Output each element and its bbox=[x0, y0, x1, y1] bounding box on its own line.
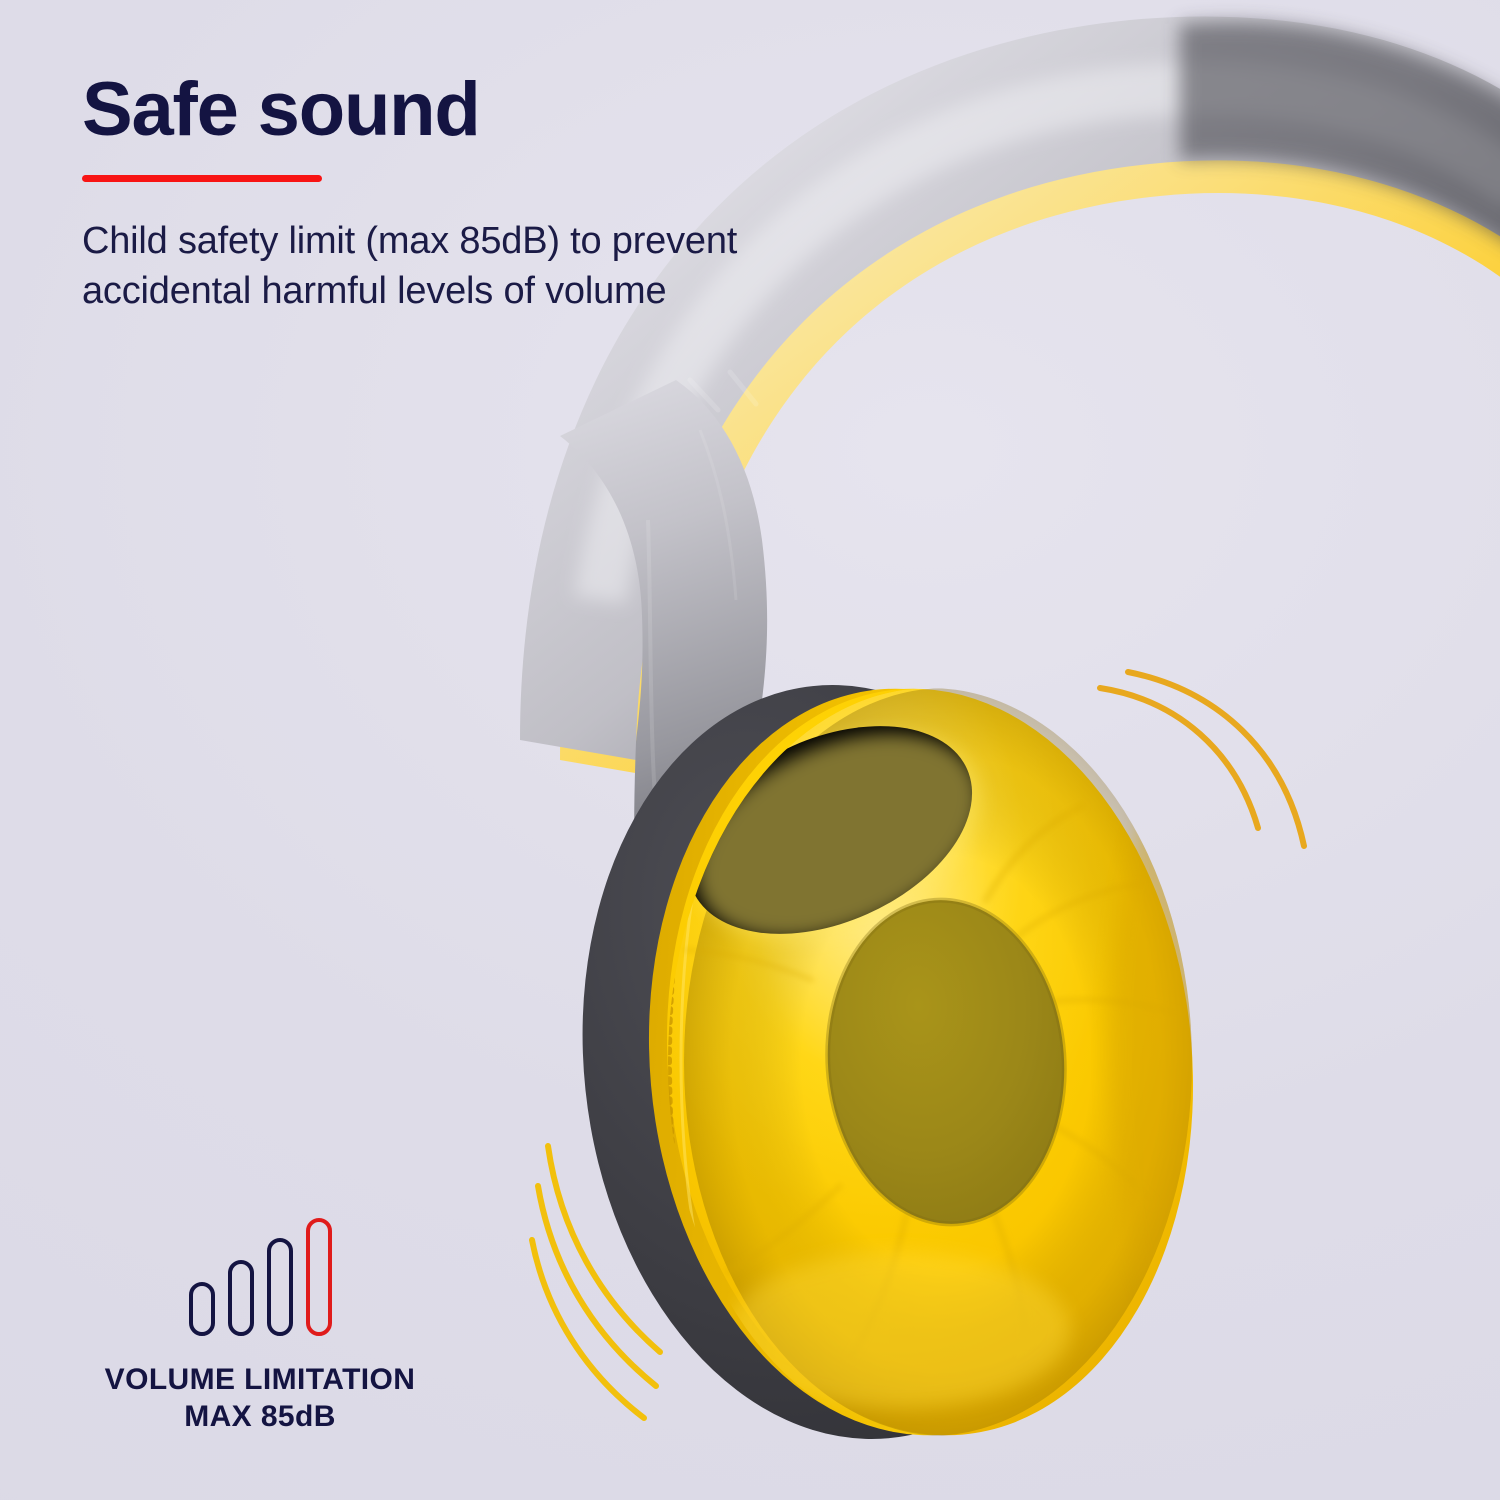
badge-caption: VOLUME LIMITATION MAX 85dB bbox=[82, 1362, 438, 1435]
volume-bars-icon bbox=[82, 1218, 438, 1336]
volume-bar-1 bbox=[189, 1282, 215, 1336]
volume-bar-3 bbox=[267, 1238, 293, 1336]
badge-caption-line-1: VOLUME LIMITATION bbox=[105, 1363, 416, 1396]
product-feature-image: Safe sound Child safety limit (max 85dB)… bbox=[0, 0, 1500, 1500]
badge-caption-line-2: MAX 85dB bbox=[82, 1399, 438, 1436]
volume-limitation-badge: VOLUME LIMITATION MAX 85dB bbox=[82, 1218, 438, 1435]
feature-description: Child safety limit (max 85dB) to prevent… bbox=[82, 217, 932, 317]
feature-description-line-1: Child safety limit (max 85dB) to prevent bbox=[82, 217, 932, 267]
feature-text-block: Safe sound Child safety limit (max 85dB)… bbox=[82, 74, 962, 317]
volume-bar-4-limit bbox=[306, 1218, 332, 1336]
volume-bar-2 bbox=[228, 1260, 254, 1336]
title-underline-rule bbox=[82, 175, 322, 182]
feature-description-line-2: accidental harmful levels of volume bbox=[82, 267, 932, 317]
page-title: Safe sound bbox=[82, 74, 962, 146]
